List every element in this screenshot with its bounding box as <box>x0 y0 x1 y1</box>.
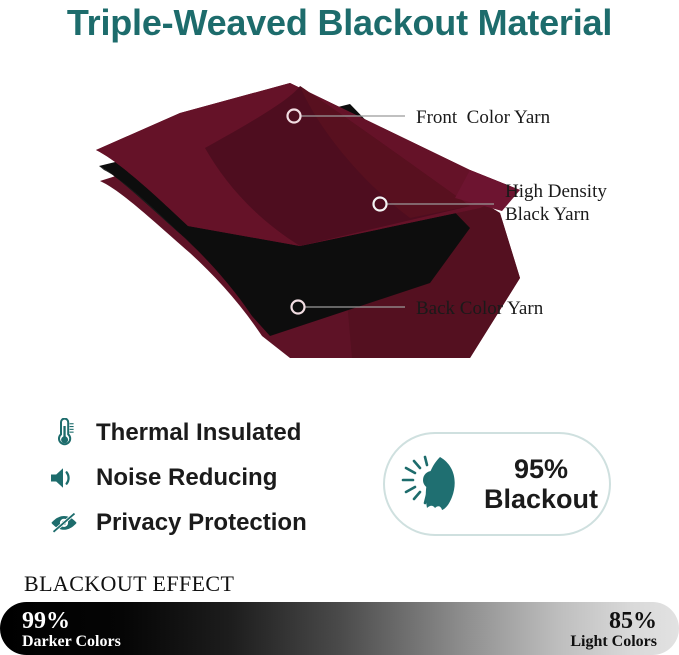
feature-label: Noise Reducing <box>96 464 277 492</box>
feature-item-thermal-insulated: Thermal Insulated <box>44 410 364 455</box>
callout-label-front: Front Color Yarn <box>416 106 550 129</box>
blackout-effect-heading: BLACKOUT EFFECT <box>24 571 234 597</box>
light-colors-percent: 85% <box>570 609 657 634</box>
darker-colors-percent: 99% <box>22 609 121 634</box>
feature-label: Thermal Insulated <box>96 419 301 447</box>
callout-label-back: Back Color Yarn <box>416 297 543 320</box>
darker-colors-label: Darker Colors <box>22 634 121 651</box>
feature-label: Privacy Protection <box>96 509 307 537</box>
blackout-effect-gradient-bar: 99% Darker Colors 85% Light Colors <box>0 602 679 655</box>
badge-percent: 95% <box>514 454 568 484</box>
feature-list: Thermal Insulated Noise Reducing Privacy… <box>44 410 364 545</box>
speaker-sound-icon <box>44 460 84 496</box>
gradient-bar-left-stat: 99% Darker Colors <box>22 609 121 651</box>
sun-blocked-icon <box>393 453 479 515</box>
light-colors-label: Light Colors <box>570 634 657 651</box>
badge-text: 95% Blackout <box>479 454 609 514</box>
feature-item-noise-reducing: Noise Reducing <box>44 455 364 500</box>
callout-label-middle: High Density Black Yarn <box>505 180 607 226</box>
gradient-bar-right-stat: 85% Light Colors <box>570 609 657 651</box>
feature-item-privacy-protection: Privacy Protection <box>44 500 364 545</box>
eye-slash-icon <box>44 505 84 541</box>
badge-label: Blackout <box>484 484 598 514</box>
blackout-badge: 95% Blackout <box>383 432 611 536</box>
page-title: Triple-Weaved Blackout Material <box>0 2 679 44</box>
thermometer-icon <box>44 415 84 451</box>
